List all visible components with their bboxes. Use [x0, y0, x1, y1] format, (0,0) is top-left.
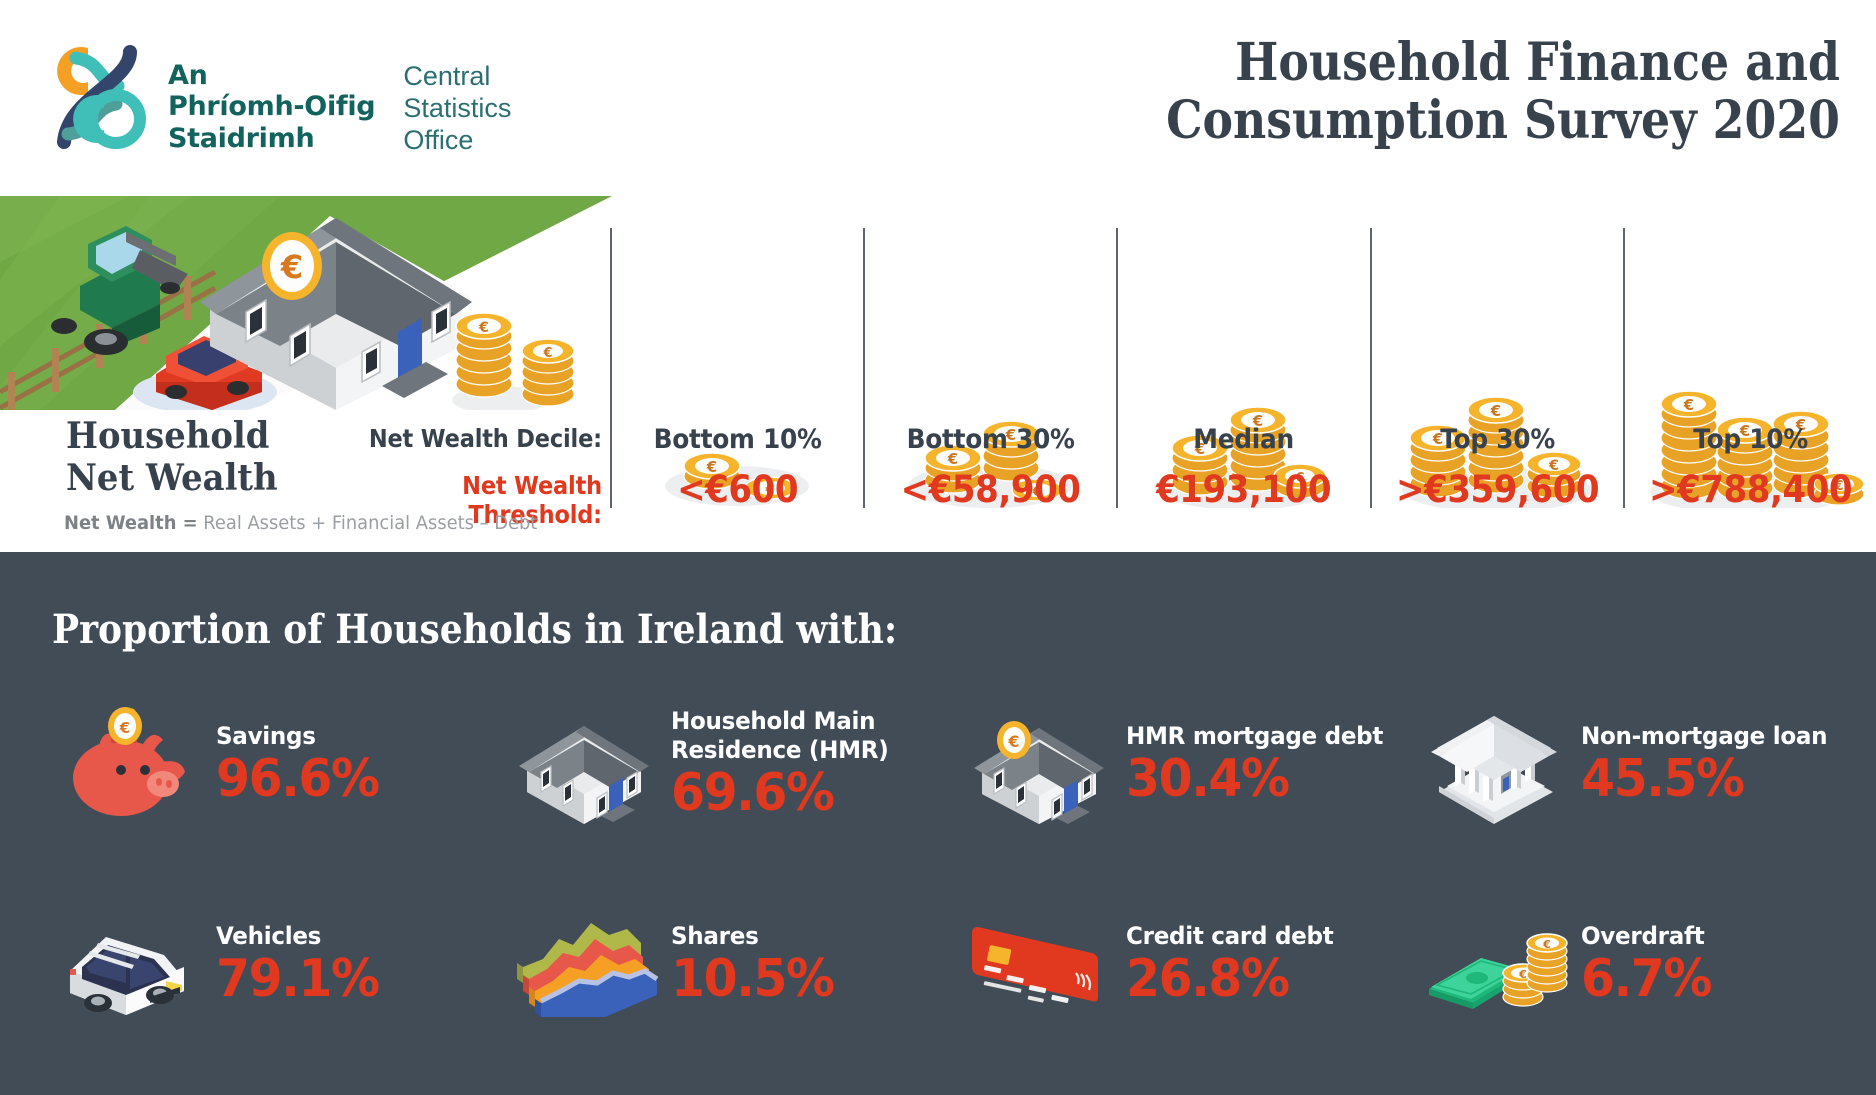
decile-column-bottom-30: € € € Bottom 30% <€58,900 [863, 228, 1116, 508]
decile-heading: Top 30% [1382, 424, 1613, 455]
stat-value: 26.8% [1126, 952, 1329, 1007]
stat-item-hmr-mortgage-debt: € HMR mortgage debt 30.4% [950, 664, 1405, 864]
hnw-heading-line-2: Net Wealth [66, 457, 320, 499]
logo-english-line-3: Office [403, 124, 511, 156]
household-net-wealth-heading: Household Net Wealth [66, 415, 320, 499]
logo-english-line-2: Statistics [403, 92, 511, 124]
svg-text:€: € [1007, 732, 1019, 751]
hnw-heading-line-1: Household [66, 415, 320, 457]
stat-item-non-mortgage-loan: Non-mortgage loan 45.5% [1405, 664, 1860, 864]
stat-value: 79.1% [216, 952, 379, 1007]
logo-irish-line-3: Staidrimh [168, 123, 375, 154]
decile-heading: Bottom 10% [622, 424, 853, 455]
house-icon [509, 699, 659, 829]
banknotes-coins-icon: € € [1419, 899, 1569, 1029]
area-chart-icon [509, 899, 659, 1029]
svg-text:€: € [119, 719, 130, 737]
credit-card-icon [964, 899, 1114, 1029]
net-wealth-formula: Net Wealth = Real Assets + Financial Ass… [64, 512, 537, 534]
proportion-stats-grid: € Savings 96.6% [40, 664, 1860, 1064]
stat-item-overdraft: € € Overdraft 6.7% [1405, 864, 1860, 1064]
stat-item-shares: Shares 10.5% [495, 864, 950, 1064]
stat-item-vehicles: Vehicles 79.1% [40, 864, 495, 1064]
svg-text:€: € [1489, 402, 1500, 420]
decile-column-bottom-10: € € Bottom 10% <€600 [610, 228, 863, 508]
svg-text:€: € [1542, 938, 1551, 951]
stat-value: 45.5% [1581, 752, 1822, 807]
proportion-section: Proportion of Households in Ireland with… [0, 552, 1876, 1095]
cso-logo-mark [42, 38, 150, 156]
logo-english-text: Central Statistics Office [403, 38, 511, 156]
logo-irish-line-2: Phríomh-Oifig [168, 91, 375, 122]
logo-irish-text: An Phríomh-Oifig Staidrimh [168, 38, 375, 154]
decile-column-top-10: € € € [1623, 228, 1876, 508]
stat-label: Overdraft [1581, 922, 1714, 950]
stat-value: 30.4% [1126, 752, 1378, 807]
stat-label: Credit card debt [1126, 922, 1333, 950]
net-wealth-decile-label: Net Wealth Decile: [350, 424, 602, 453]
stat-value: 6.7% [1581, 952, 1711, 1007]
logo-irish-line-1: An [168, 60, 375, 91]
stat-label: Shares [671, 922, 837, 950]
svg-text:€: € [478, 320, 489, 336]
house-with-coin-icon: € [964, 699, 1114, 829]
stat-label: Household Main Residence (HMR) [671, 707, 939, 764]
stat-value: 10.5% [671, 952, 834, 1007]
stat-item-hmr: Household Main Residence (HMR) 69.6% [495, 664, 950, 864]
coin-stack-icon: € € [452, 313, 574, 410]
stat-label: Non-mortgage loan [1581, 722, 1827, 750]
decile-threshold-value: <€600 [622, 468, 853, 511]
svg-text:€: € [542, 346, 552, 361]
proportion-heading: Proportion of Households in Ireland with… [52, 606, 897, 653]
net-wealth-decile-columns: € € Bottom 10% <€600 € [610, 228, 1876, 508]
decile-heading: Top 10% [1635, 424, 1866, 455]
stat-item-credit-card-debt: Credit card debt 26.8% [950, 864, 1405, 1064]
stat-label: HMR mortgage debt [1126, 722, 1383, 750]
stat-value: 69.6% [671, 766, 933, 821]
svg-text:€: € [1518, 968, 1527, 981]
svg-text:€: € [1683, 396, 1694, 414]
decile-threshold-value: €193,100 [1128, 468, 1359, 511]
page-title-line-2: Consumption Survey 2020 [934, 92, 1840, 150]
decile-heading: Median [1128, 424, 1359, 455]
decile-heading: Bottom 30% [875, 424, 1106, 455]
stat-label: Vehicles [216, 922, 382, 950]
decile-column-top-30: € € € Top 30% >€359,6 [1370, 228, 1623, 508]
cso-logo: An Phríomh-Oifig Staidrimh Central Stati… [42, 38, 511, 156]
stat-label: Savings [216, 722, 382, 750]
page-title-line-1: Household Finance and [934, 34, 1840, 92]
net-wealth-formula-rest: Real Assets + Financial Assets – Debt [198, 512, 538, 534]
logo-english-line-1: Central [403, 60, 511, 92]
decile-threshold-value: >€788,400 [1635, 468, 1866, 511]
svg-text:€: € [280, 248, 303, 286]
household-illustration: € € [0, 196, 612, 410]
decile-threshold-value: >€359,600 [1382, 468, 1613, 511]
decile-threshold-value: <€58,900 [875, 468, 1106, 511]
piggy-bank-icon: € [54, 699, 204, 829]
stat-value: 96.6% [216, 752, 379, 807]
bank-building-icon [1419, 699, 1569, 829]
car-icon [54, 899, 204, 1029]
page-title: Household Finance and Consumption Survey… [934, 34, 1840, 150]
net-wealth-formula-bold: Net Wealth = [64, 512, 198, 534]
stat-item-savings: € Savings 96.6% [40, 664, 495, 864]
household-scene-svg: € € [0, 196, 612, 410]
decile-column-median: € € € Median €193,100 [1116, 228, 1369, 508]
